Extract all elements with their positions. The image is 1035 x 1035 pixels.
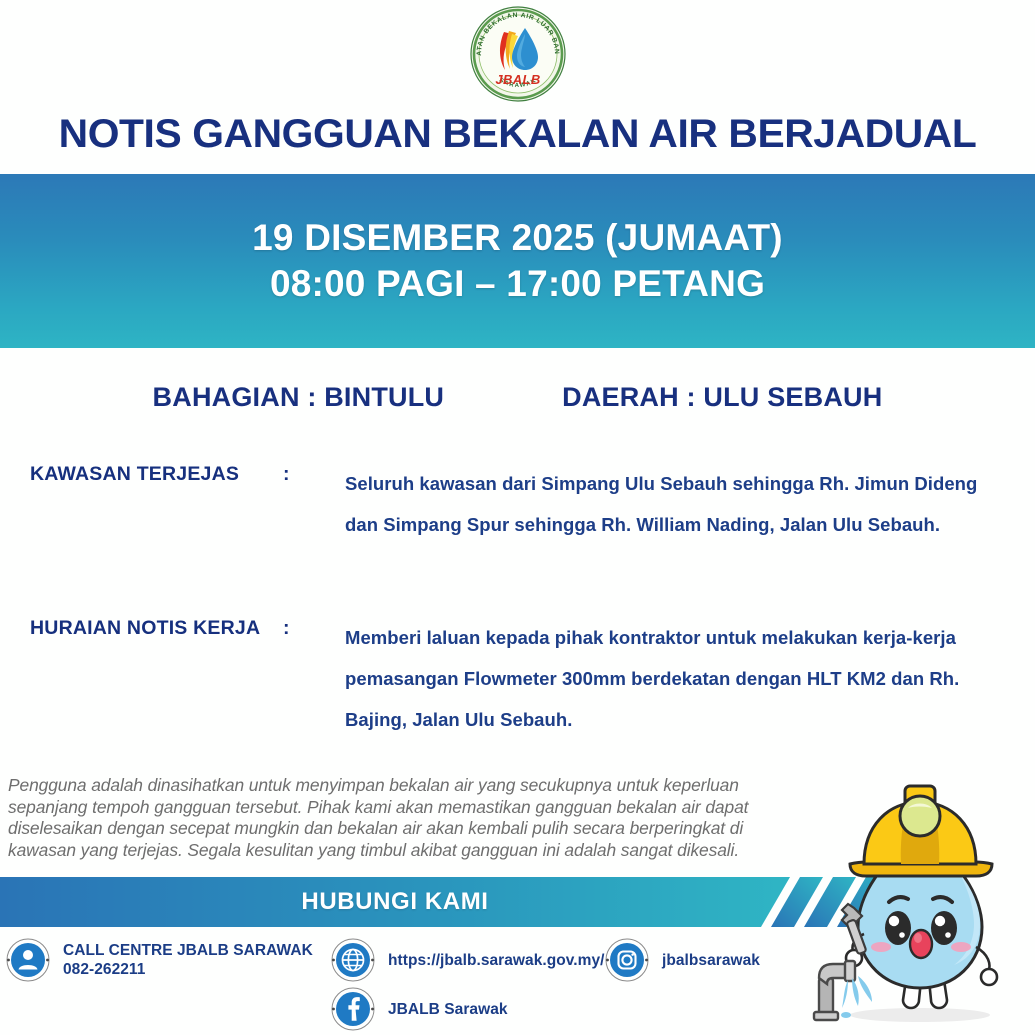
instagram-icon: [605, 938, 649, 982]
contact-line-1: https://jbalb.sarawak.gov.my/: [388, 952, 605, 969]
facebook-icon: [331, 987, 375, 1031]
contact-item-facebook[interactable]: JBALB Sarawak: [331, 987, 508, 1031]
notice-poster: JABATAN BEKALAN AIR LUAR BANDAR SARAWAK …: [0, 0, 1035, 1035]
banner-date: 19 DISEMBER 2025 (JUMAAT): [252, 217, 783, 259]
detail-label: KAWASAN TERJEJAS: [30, 463, 283, 545]
division-row: BAHAGIAN : BINTULU DAERAH : ULU SEBAUH: [0, 382, 1035, 413]
detail-row-huraian-notis-kerja: HURAIAN NOTIS KERJA : Memberi laluan kep…: [30, 617, 990, 740]
contact-line-1: JBALB Sarawak: [388, 1001, 508, 1018]
contact-text: jbalbsarawak: [662, 951, 760, 970]
contact-line-1: CALL CENTRE JBALB SARAWAK: [63, 942, 313, 959]
detail-label: HURAIAN NOTIS KERJA: [30, 617, 283, 740]
date-banner: 19 DISEMBER 2025 (JUMAAT) 08:00 PAGI – 1…: [0, 174, 1035, 348]
bahagian-label: BAHAGIAN : BINTULU: [153, 382, 445, 413]
banner-time: 08:00 PAGI – 17:00 PETANG: [270, 263, 765, 305]
contact-text: https://jbalb.sarawak.gov.my/: [388, 951, 605, 970]
detail-colon: :: [283, 463, 345, 545]
detail-value: Memberi laluan kepada pihak kontraktor u…: [345, 617, 990, 740]
detail-row-kawasan-terjejas: KAWASAN TERJEJAS : Seluruh kawasan dari …: [30, 463, 990, 545]
contact-item-website[interactable]: https://jbalb.sarawak.gov.my/: [331, 938, 605, 982]
contact-text: JBALB Sarawak: [388, 1000, 508, 1019]
svg-text:JBALB: JBALB: [495, 72, 540, 87]
daerah-label: DAERAH : ULU SEBAUH: [562, 382, 882, 413]
logo-container: JABATAN BEKALAN AIR LUAR BANDAR SARAWAK …: [0, 4, 1035, 104]
contact-text: CALL CENTRE JBALB SARAWAK 082-262211: [63, 941, 313, 979]
contact-line-2: 082-262211: [63, 960, 313, 979]
page-title: NOTIS GANGGUAN BEKALAN AIR BERJADUAL: [0, 112, 1035, 157]
detail-colon: :: [283, 617, 345, 740]
water-droplet-worker-mascot: [802, 762, 1035, 1035]
contact-line-1: jbalbsarawak: [662, 952, 760, 969]
person-icon: [6, 938, 50, 982]
globe-icon: [331, 938, 375, 982]
contact-item-instagram[interactable]: jbalbsarawak: [605, 938, 760, 982]
detail-value: Seluruh kawasan dari Simpang Ulu Sebauh …: [345, 463, 990, 545]
mascot-illustration: [802, 762, 1035, 1035]
disclaimer-text: Pengguna adalah dinasihatkan untuk menyi…: [8, 775, 768, 861]
contact-item-call-centre[interactable]: CALL CENTRE JBALB SARAWAK 082-262211: [6, 938, 313, 982]
jbalb-logo: JABATAN BEKALAN AIR LUAR BANDAR SARAWAK …: [468, 4, 568, 104]
